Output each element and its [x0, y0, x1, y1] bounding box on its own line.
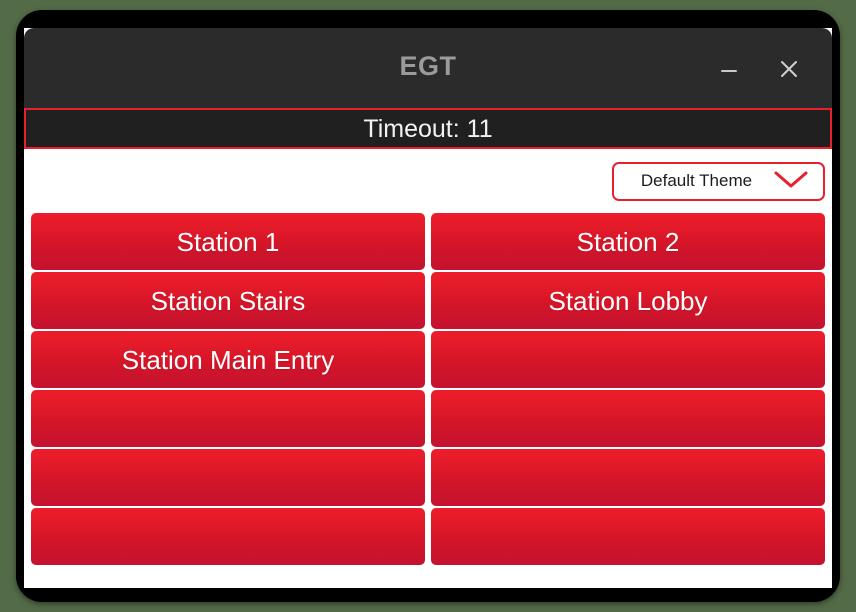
station-button[interactable] — [431, 390, 825, 447]
station-button[interactable] — [31, 390, 425, 447]
application-window: EGT Timeout: 11 — [16, 10, 840, 602]
minimize-icon — [718, 58, 740, 80]
theme-select[interactable]: Default Theme — [612, 162, 825, 201]
station-button[interactable]: Station Stairs — [31, 272, 425, 329]
station-button[interactable]: Station Main Entry — [31, 331, 425, 388]
station-button[interactable]: Station Lobby — [431, 272, 825, 329]
station-button[interactable]: Station 1 — [31, 213, 425, 270]
theme-selected-value: Default Theme — [628, 171, 771, 191]
timeout-label: Timeout: 11 — [363, 115, 492, 143]
station-button[interactable] — [431, 508, 825, 565]
station-button-grid: Station 1 Station 2 Station Stairs Stati… — [30, 213, 826, 565]
station-button[interactable]: Station 2 — [431, 213, 825, 270]
window-content: EGT Timeout: 11 — [24, 28, 832, 588]
main-content: Default Theme Station 1 Station 2 Statio… — [24, 149, 832, 588]
chevron-down-icon — [771, 168, 811, 195]
close-button[interactable] — [772, 52, 806, 86]
close-icon — [777, 57, 801, 81]
station-button[interactable] — [31, 508, 425, 565]
title-bar: EGT — [24, 28, 832, 108]
window-title: EGT — [24, 50, 832, 82]
minimize-button[interactable] — [712, 52, 746, 86]
station-button[interactable] — [431, 331, 825, 388]
timeout-banner: Timeout: 11 — [24, 108, 832, 149]
station-button[interactable] — [431, 449, 825, 506]
station-button[interactable] — [31, 449, 425, 506]
theme-row: Default Theme — [30, 149, 826, 213]
